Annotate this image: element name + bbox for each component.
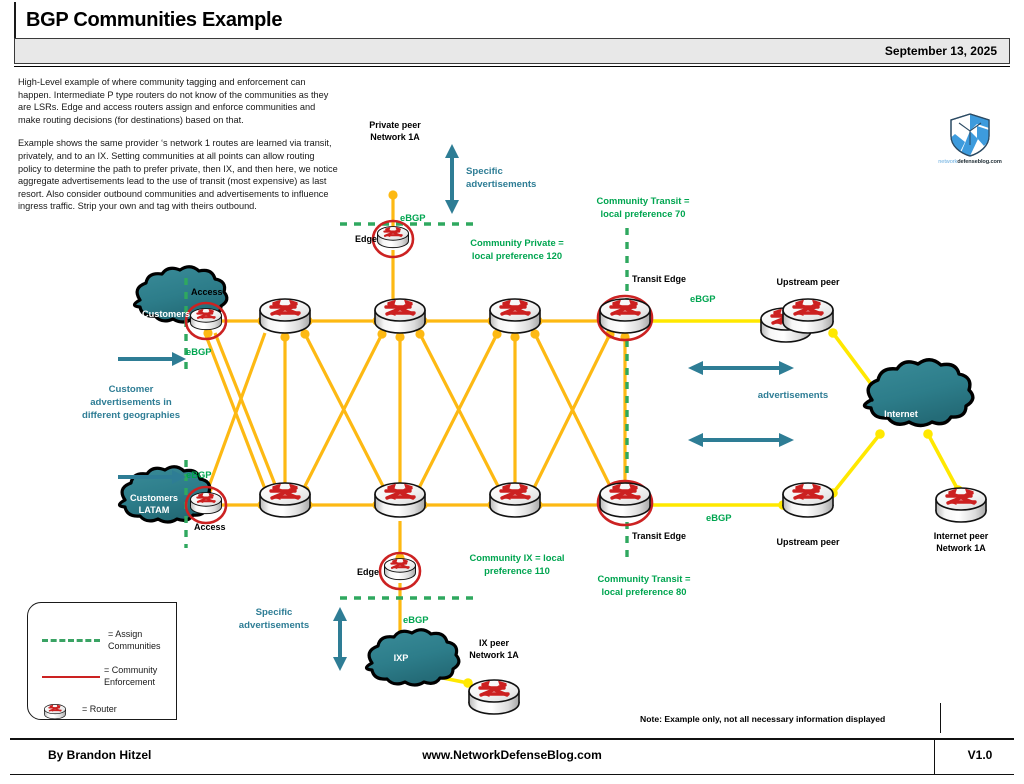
arrow-specific-adv-bottom — [333, 607, 347, 671]
green-dashed-line-icon — [42, 639, 100, 642]
label-specific-advertisements-top: Specific advertisements — [466, 165, 596, 191]
red-solid-line-icon — [42, 676, 100, 678]
label-cloud-customers-usa: Customers USA — [131, 308, 201, 332]
label-private-peer: Private peer Network 1A — [345, 120, 445, 143]
footer-site: www.NetworkDefenseBlog.com — [0, 748, 1024, 762]
router-core-r1c2[interactable] — [375, 299, 425, 333]
label-cloud-customers-latam: Customers LATAM — [116, 492, 192, 516]
footer-note-divider — [940, 703, 941, 733]
footer-rule-top — [10, 738, 1014, 740]
legend-item-router: = Router — [42, 699, 117, 721]
diagram-page: BGP Communities Example September 13, 20… — [0, 0, 1024, 784]
legend-label-router: = Router — [82, 704, 117, 716]
router-access-bottom[interactable] — [191, 493, 222, 514]
legend-label-assign-1: = Assign — [108, 629, 161, 641]
arrow-advertisements-lower — [688, 433, 794, 447]
label-ebgp-usa: eBGP — [186, 345, 246, 358]
label-upstream-peer-top: Upstream peer — [758, 277, 858, 289]
label-cloud-internet: Internet — [866, 408, 936, 420]
router-upstream-peer-bottom[interactable] — [783, 483, 833, 517]
label-transit-edge-top: Transit Edge — [632, 274, 686, 284]
arrow-customer-usa — [118, 352, 186, 366]
router-edge-top[interactable] — [378, 227, 409, 248]
router-core-r2c1[interactable] — [260, 483, 310, 517]
community-enforcement-rings — [186, 221, 652, 589]
label-edge-bottom: Edge — [357, 567, 379, 577]
label-community-transit-80: Community Transit = local preference 80 — [554, 572, 734, 598]
label-advertisements: advertisements — [718, 389, 868, 402]
label-specific-advertisements-bottom: Specific advertisements — [218, 606, 330, 632]
label-ix-peer: IX peer Network 1A — [444, 638, 544, 661]
footer-note: Note: Example only, not all necessary in… — [640, 714, 885, 724]
router-nodes — [191, 227, 987, 714]
arrow-specific-adv-top — [445, 144, 459, 214]
router-ix-peer[interactable] — [469, 680, 519, 714]
router-core-r1c1[interactable] — [260, 299, 310, 333]
router-upstream-peer-top[interactable] — [783, 299, 833, 333]
arrow-advertisements-upper — [688, 361, 794, 375]
router-internet-peer[interactable] — [936, 488, 986, 522]
label-ebgp-transit-bottom: eBGP — [706, 511, 766, 524]
legend-item-assign-communities: = Assign Communities — [42, 629, 161, 652]
legend-label-assign-2: Communities — [108, 641, 161, 653]
label-ebgp-latam: eBGP — [186, 468, 246, 481]
label-cloud-ixp: IXP — [371, 652, 431, 664]
legend-item-community-enforcement: = Community Enforcement — [42, 665, 157, 688]
label-community-transit-70: Community Transit = local preference 70 — [553, 194, 733, 220]
router-core-r2c2[interactable] — [375, 483, 425, 517]
router-core-r1c3[interactable] — [490, 299, 540, 333]
assign-community-guides — [186, 224, 627, 598]
label-customer-advertisements: Customer advertisements in different geo… — [66, 383, 196, 422]
router-icon — [42, 699, 68, 721]
legend-box: = Assign Communities = Community Enforce… — [27, 602, 177, 720]
label-upstream-peer-bottom: Upstream peer — [758, 537, 858, 549]
label-ebgp-transit-top: eBGP — [690, 292, 750, 305]
label-ebgp-private: eBGP — [400, 211, 470, 224]
footer-rule-bottom — [10, 774, 1014, 775]
label-access-top: Access — [191, 287, 223, 297]
legend-label-enforce-1: = Community — [104, 665, 157, 677]
label-community-private: Community Private = local preference 120 — [422, 236, 612, 262]
router-edge-bottom[interactable] — [385, 559, 416, 580]
router-core-r2c3[interactable] — [490, 483, 540, 517]
label-ebgp-ixp: eBGP — [403, 613, 463, 626]
footer-version: V1.0 — [940, 748, 1020, 762]
router-transit-edge-bottom[interactable] — [600, 483, 650, 517]
external-link-junctions — [395, 316, 963, 688]
label-transit-edge-bottom: Transit Edge — [632, 531, 686, 541]
legend-label-enforce-2: Enforcement — [104, 677, 157, 689]
label-access-bottom: Access — [194, 522, 226, 532]
label-edge-top: Edge — [355, 234, 377, 244]
label-internet-peer: Internet peer Network 1A — [911, 531, 1011, 554]
router-transit-edge-top[interactable] — [600, 299, 650, 333]
